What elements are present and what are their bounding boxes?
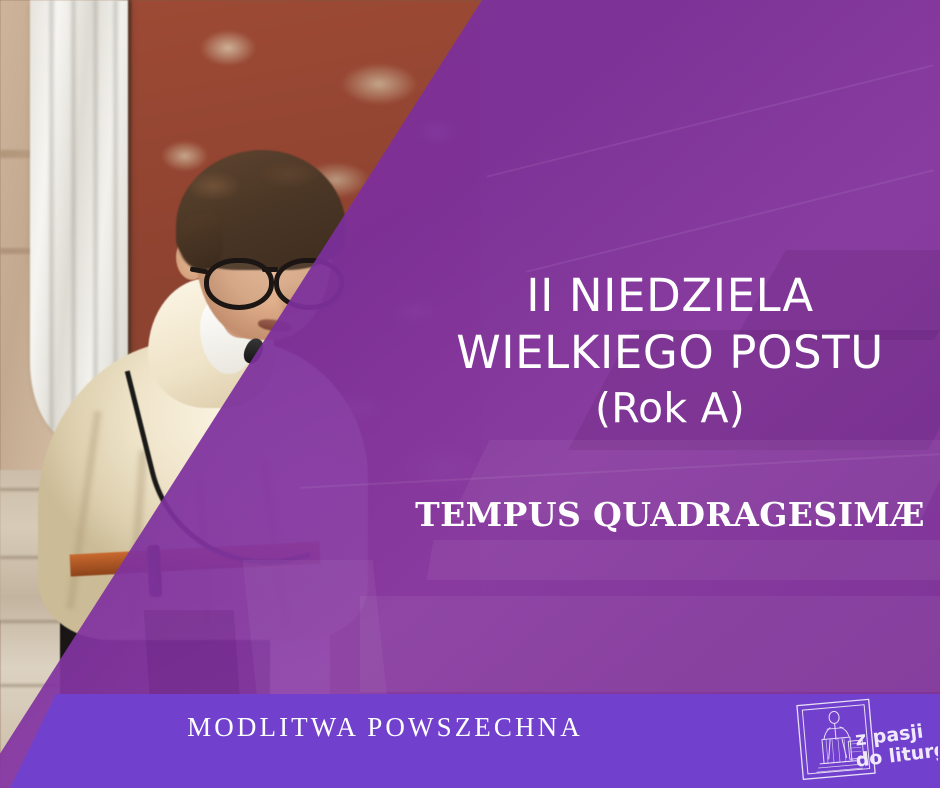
title-line-1: II NIEDZIELA [420, 268, 920, 325]
poster-canvas: II NIEDZIELA WIELKIEGO POSTU (Rok A) TEM… [0, 0, 940, 788]
latin-subtitle: TEMPUS QUADRAGESIMÆ [410, 495, 930, 534]
title-line-2: WIELKIEGO POSTU [420, 325, 920, 382]
logo-z-pasji-do-liturgii[interactable]: z pasji do liturgii [792, 698, 938, 780]
title-line-3: (Rok A) [420, 383, 920, 435]
page-title: II NIEDZIELA WIELKIEGO POSTU (Rok A) [420, 268, 920, 435]
